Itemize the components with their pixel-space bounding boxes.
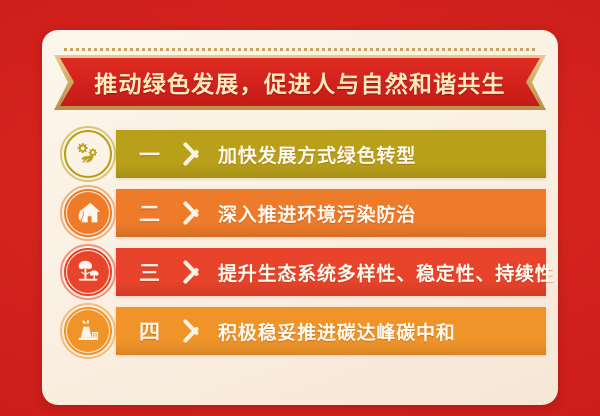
item-label: 提升生态系统多样性、稳定性、持续性 (206, 259, 555, 286)
item-bar[interactable]: 四 积极稳妥推进碳达峰碳中和 (116, 307, 546, 355)
item-label: 深入推进环境污染防治 (206, 200, 546, 227)
item-number: 四 (116, 316, 184, 346)
factory-leaf-icon (60, 303, 116, 359)
item-number: 二 (116, 198, 184, 228)
trees-icon (60, 244, 116, 300)
title-banner: 推动绿色发展，促进人与自然和谐共生 (54, 48, 546, 110)
items-list: 一 加快发展方式绿色转型 二 (54, 130, 546, 366)
house-leaf-glyph (73, 198, 103, 228)
dotted-divider (64, 48, 536, 51)
chevron-right-icon (184, 189, 206, 237)
chevron-right-icon (184, 248, 206, 296)
item-bar[interactable]: 二 深入推进环境污染防治 (116, 189, 546, 237)
house-leaf-icon (60, 185, 116, 241)
item-number: 三 (116, 257, 184, 287)
item-bar[interactable]: 三 提升生态系统多样性、稳定性、持续性 (116, 248, 546, 296)
chevron-right-icon (184, 307, 206, 355)
item-label: 加快发展方式绿色转型 (206, 141, 546, 168)
factory-leaf-glyph (73, 316, 103, 346)
list-item[interactable]: 四 积极稳妥推进碳达峰碳中和 (54, 307, 546, 355)
gear-leaf-glyph (73, 139, 103, 169)
ribbon-red-layer: 推动绿色发展，促进人与自然和谐共生 (60, 58, 540, 106)
trees-glyph (73, 257, 103, 287)
gear-leaf-icon (60, 126, 116, 182)
item-number: 一 (116, 139, 184, 169)
item-bar[interactable]: 一 加快发展方式绿色转型 (116, 130, 546, 178)
item-label: 积极稳妥推进碳达峰碳中和 (206, 318, 546, 345)
list-item[interactable]: 三 提升生态系统多样性、稳定性、持续性 (54, 248, 546, 296)
page-title: 推动绿色发展，促进人与自然和谐共生 (94, 65, 505, 99)
chevron-right-icon (184, 130, 206, 178)
list-item[interactable]: 二 深入推进环境污染防治 (54, 189, 546, 237)
list-item[interactable]: 一 加快发展方式绿色转型 (54, 130, 546, 178)
poster-background: 推动绿色发展，促进人与自然和谐共生 (0, 0, 600, 416)
